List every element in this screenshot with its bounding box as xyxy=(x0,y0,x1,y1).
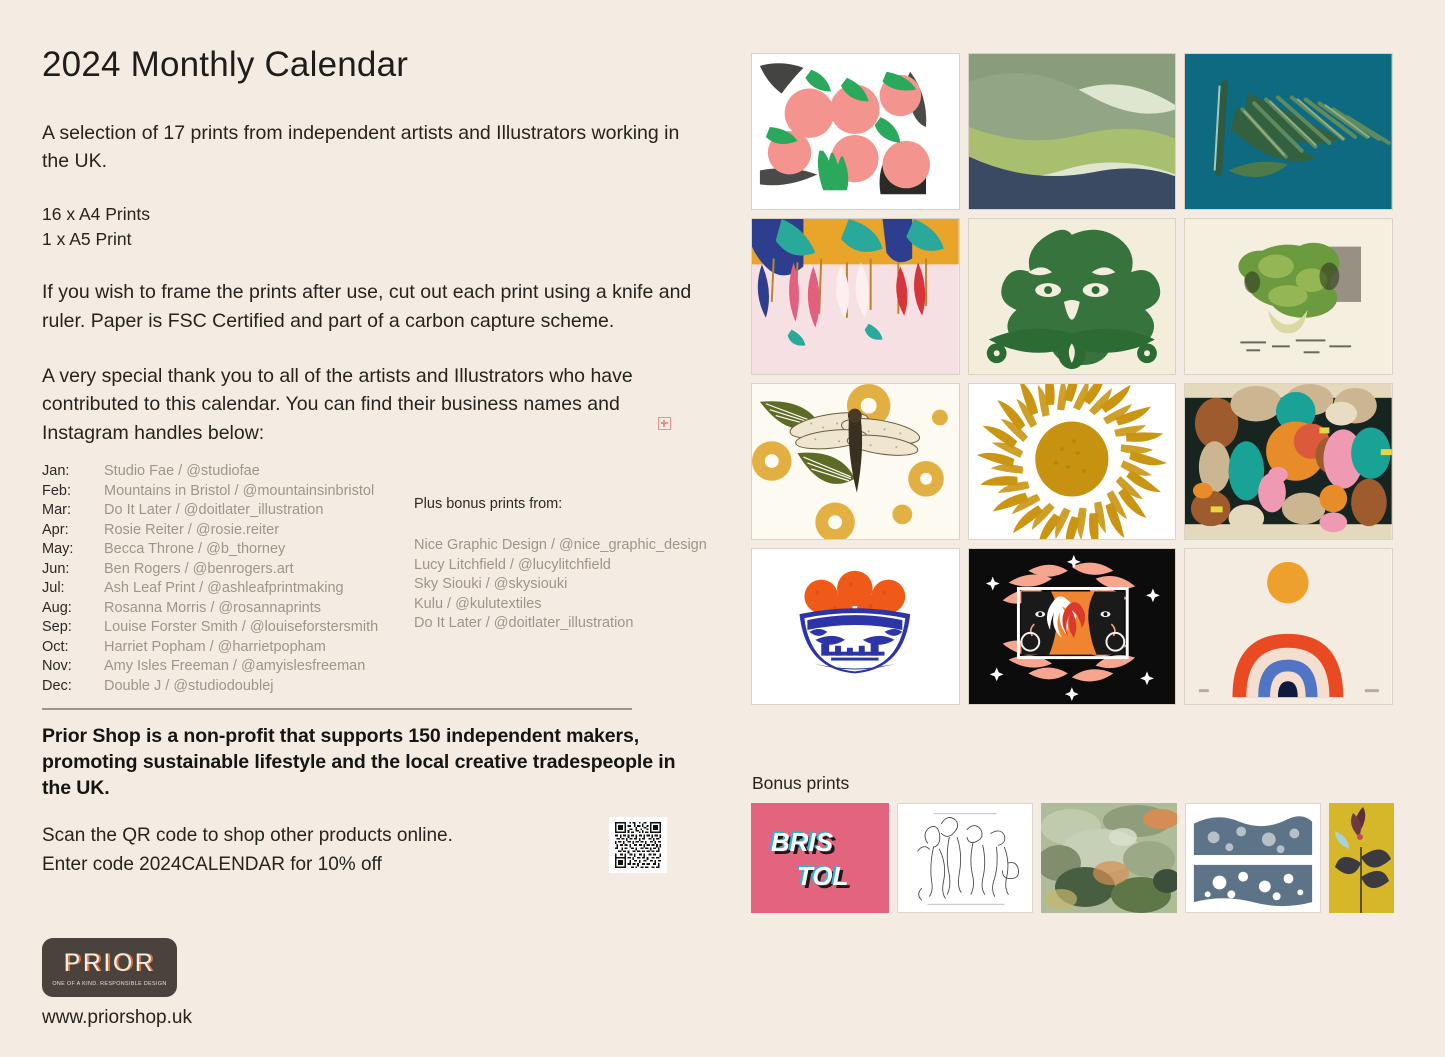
gallery-row xyxy=(751,383,1393,540)
bonus-credit-item: Kulu / @kulutextiles xyxy=(414,595,744,615)
prior-wordmark: PRIOR xyxy=(64,951,156,976)
gallery-tile-green-man-print[interactable] xyxy=(968,218,1177,375)
blue-texture-print-icon xyxy=(1186,804,1320,912)
gallery-tile-sun-arches-print[interactable] xyxy=(1184,548,1393,705)
gallery-row xyxy=(751,53,1393,210)
credit-artist-label: Rosie Reiter / @rosie.reiter xyxy=(104,521,279,541)
gallery-tile-hanging-flowers-print[interactable] xyxy=(751,218,960,375)
thanks-paragraph: A very special thank you to all of the a… xyxy=(42,362,702,449)
bonus-tile-leaf-plant-print[interactable] xyxy=(1329,803,1394,913)
credit-month-label: Jul: xyxy=(42,579,104,599)
gallery-row xyxy=(751,218,1393,375)
print-count-list: 16 x A4 Prints 1 x A5 Print xyxy=(42,202,702,252)
gallery-tile-dragonfly-print[interactable] xyxy=(751,383,960,540)
bonus-tile-bristol-print[interactable]: BRIS BRIS BRIS TOL TOL TOL xyxy=(751,803,889,913)
gallery-tile-green-hills-print[interactable] xyxy=(968,53,1177,210)
bonus-prints-label: Bonus prints xyxy=(752,773,849,794)
gallery-tile-peaches-print[interactable] xyxy=(751,53,960,210)
dragonfly-print-icon xyxy=(752,384,959,539)
credit-month-label: Apr: xyxy=(42,521,104,541)
credit-month-label: May: xyxy=(42,540,104,560)
bonus-tile-line-drawing-print[interactable] xyxy=(897,803,1033,913)
green-painting-print-icon xyxy=(1041,803,1177,913)
green-man-print-icon xyxy=(969,219,1176,374)
credit-artist-label: Double J / @studiodoublej xyxy=(104,677,274,697)
svg-text:TOL: TOL xyxy=(797,861,849,891)
prior-logo[interactable]: PRIOR ONE OF A KIND. RESPONSIBLE DESIGN xyxy=(42,938,177,997)
qr-scan-line: Scan the QR code to shop other products … xyxy=(42,822,602,851)
bonus-credit-item: Lucy Litchfield / @lucylitchfield xyxy=(414,556,744,576)
print-count-a4: 16 x A4 Prints xyxy=(42,202,702,227)
website-url[interactable]: www.priorshop.uk xyxy=(42,1007,192,1029)
print-gallery-grid xyxy=(751,53,1393,713)
houseplant-print-icon xyxy=(1185,219,1392,374)
credit-month-label: Feb: xyxy=(42,482,104,502)
gallery-tile-orange-bowl-print[interactable] xyxy=(751,548,960,705)
credit-month-label: Jun: xyxy=(42,560,104,580)
framing-paragraph: If you wish to frame the prints after us… xyxy=(42,278,702,336)
credit-month-label: Dec: xyxy=(42,677,104,697)
credit-month-label: Jan: xyxy=(42,462,104,482)
gallery-row xyxy=(751,548,1393,705)
gallery-tile-sunflower-print[interactable] xyxy=(968,383,1177,540)
orange-bowl-print-icon xyxy=(752,549,959,704)
bonus-credits-list: Plus bonus prints from: Nice Graphic Des… xyxy=(414,496,744,634)
credit-artist-label: Harriet Popham / @harrietpopham xyxy=(104,638,326,658)
credit-month-label: Aug: xyxy=(42,599,104,619)
sun-arches-print-icon xyxy=(1185,549,1392,704)
page-title: 2024 Monthly Calendar xyxy=(42,46,702,85)
credit-month-label: Oct: xyxy=(42,638,104,658)
print-count-a5: 1 x A5 Print xyxy=(42,227,702,252)
bonus-prints-strip: BRIS BRIS BRIS TOL TOL TOL xyxy=(751,803,1394,913)
qr-code-line: Enter code 2024CALENDAR for 10% off xyxy=(42,851,602,880)
credit-row: Oct: Harriet Popham / @harrietpopham xyxy=(42,638,742,658)
abstract-shapes-print-icon xyxy=(1185,384,1392,539)
credit-month-label: Mar: xyxy=(42,501,104,521)
hanging-flowers-print-icon xyxy=(752,219,959,374)
credit-artist-label: Ash Leaf Print / @ashleafprintmaking xyxy=(104,579,344,599)
bonus-tile-green-painting-print[interactable] xyxy=(1041,803,1177,913)
credit-row: Dec: Double J / @studiodoublej xyxy=(42,677,742,697)
svg-text:BRIS: BRIS xyxy=(771,827,834,857)
credit-artist-label: Mountains in Bristol / @mountainsinbrist… xyxy=(104,482,374,502)
credit-artist-label: Rosanna Morris / @rosannaprints xyxy=(104,599,321,619)
bonus-credits-heading: Plus bonus prints from: xyxy=(414,496,744,512)
credit-artist-label: Studio Fae / @studiofae xyxy=(104,462,260,482)
peaches-print-icon xyxy=(752,54,959,209)
leaf-plant-print-icon xyxy=(1329,803,1394,913)
palm-leaf-print-icon xyxy=(1185,54,1392,209)
prior-tagline: ONE OF A KIND. RESPONSIBLE DESIGN xyxy=(52,980,166,986)
registration-plus-icon xyxy=(658,417,671,430)
bonus-credit-item: Sky Siouki / @skysiouki xyxy=(414,575,744,595)
credit-row: Nov: Amy Isles Freeman / @amyislesfreema… xyxy=(42,657,742,677)
twin-faces-print-icon xyxy=(969,549,1176,704)
sunflower-print-icon xyxy=(969,384,1176,539)
credit-artist-label: Becca Throne / @b_thorney xyxy=(104,540,285,560)
intro-paragraph: A selection of 17 prints from independen… xyxy=(42,119,702,177)
credit-artist-label: Amy Isles Freeman / @amyislesfreeman xyxy=(104,657,365,677)
qr-code[interactable] xyxy=(609,817,667,873)
gallery-tile-abstract-shapes-print[interactable] xyxy=(1184,383,1393,540)
gallery-tile-palm-leaf-print[interactable] xyxy=(1184,53,1393,210)
left-text-column: 2024 Monthly Calendar A selection of 17 … xyxy=(42,46,702,448)
credit-month-label: Sep: xyxy=(42,618,104,638)
bonus-credit-item: Do It Later / @doitlater_illustration xyxy=(414,614,744,634)
qr-instructions: Scan the QR code to shop other products … xyxy=(42,822,602,879)
credit-artist-label: Do It Later / @doitlater_illustration xyxy=(104,501,323,521)
calendar-back-cover: 2024 Monthly Calendar A selection of 17 … xyxy=(0,0,1445,1057)
line-drawing-print-icon xyxy=(898,804,1032,912)
bonus-tile-blue-texture-print[interactable] xyxy=(1185,803,1321,913)
gallery-tile-houseplant-print[interactable] xyxy=(1184,218,1393,375)
credit-artist-label: Ben Rogers / @benrogers.art xyxy=(104,560,294,580)
section-divider xyxy=(42,708,632,710)
credit-row: Jan: Studio Fae / @studiofae xyxy=(42,462,742,482)
green-hills-print-icon xyxy=(969,54,1176,209)
bristol-print-icon: BRIS BRIS BRIS TOL TOL TOL xyxy=(751,803,889,913)
mission-statement: Prior Shop is a non-profit that supports… xyxy=(42,724,682,802)
gallery-tile-twin-faces-print[interactable] xyxy=(968,548,1177,705)
credit-month-label: Nov: xyxy=(42,657,104,677)
credit-artist-label: Louise Forster Smith / @louiseforstersmi… xyxy=(104,618,378,638)
bonus-credit-item: Nice Graphic Design / @nice_graphic_desi… xyxy=(414,536,744,556)
qr-code-icon xyxy=(615,822,661,868)
